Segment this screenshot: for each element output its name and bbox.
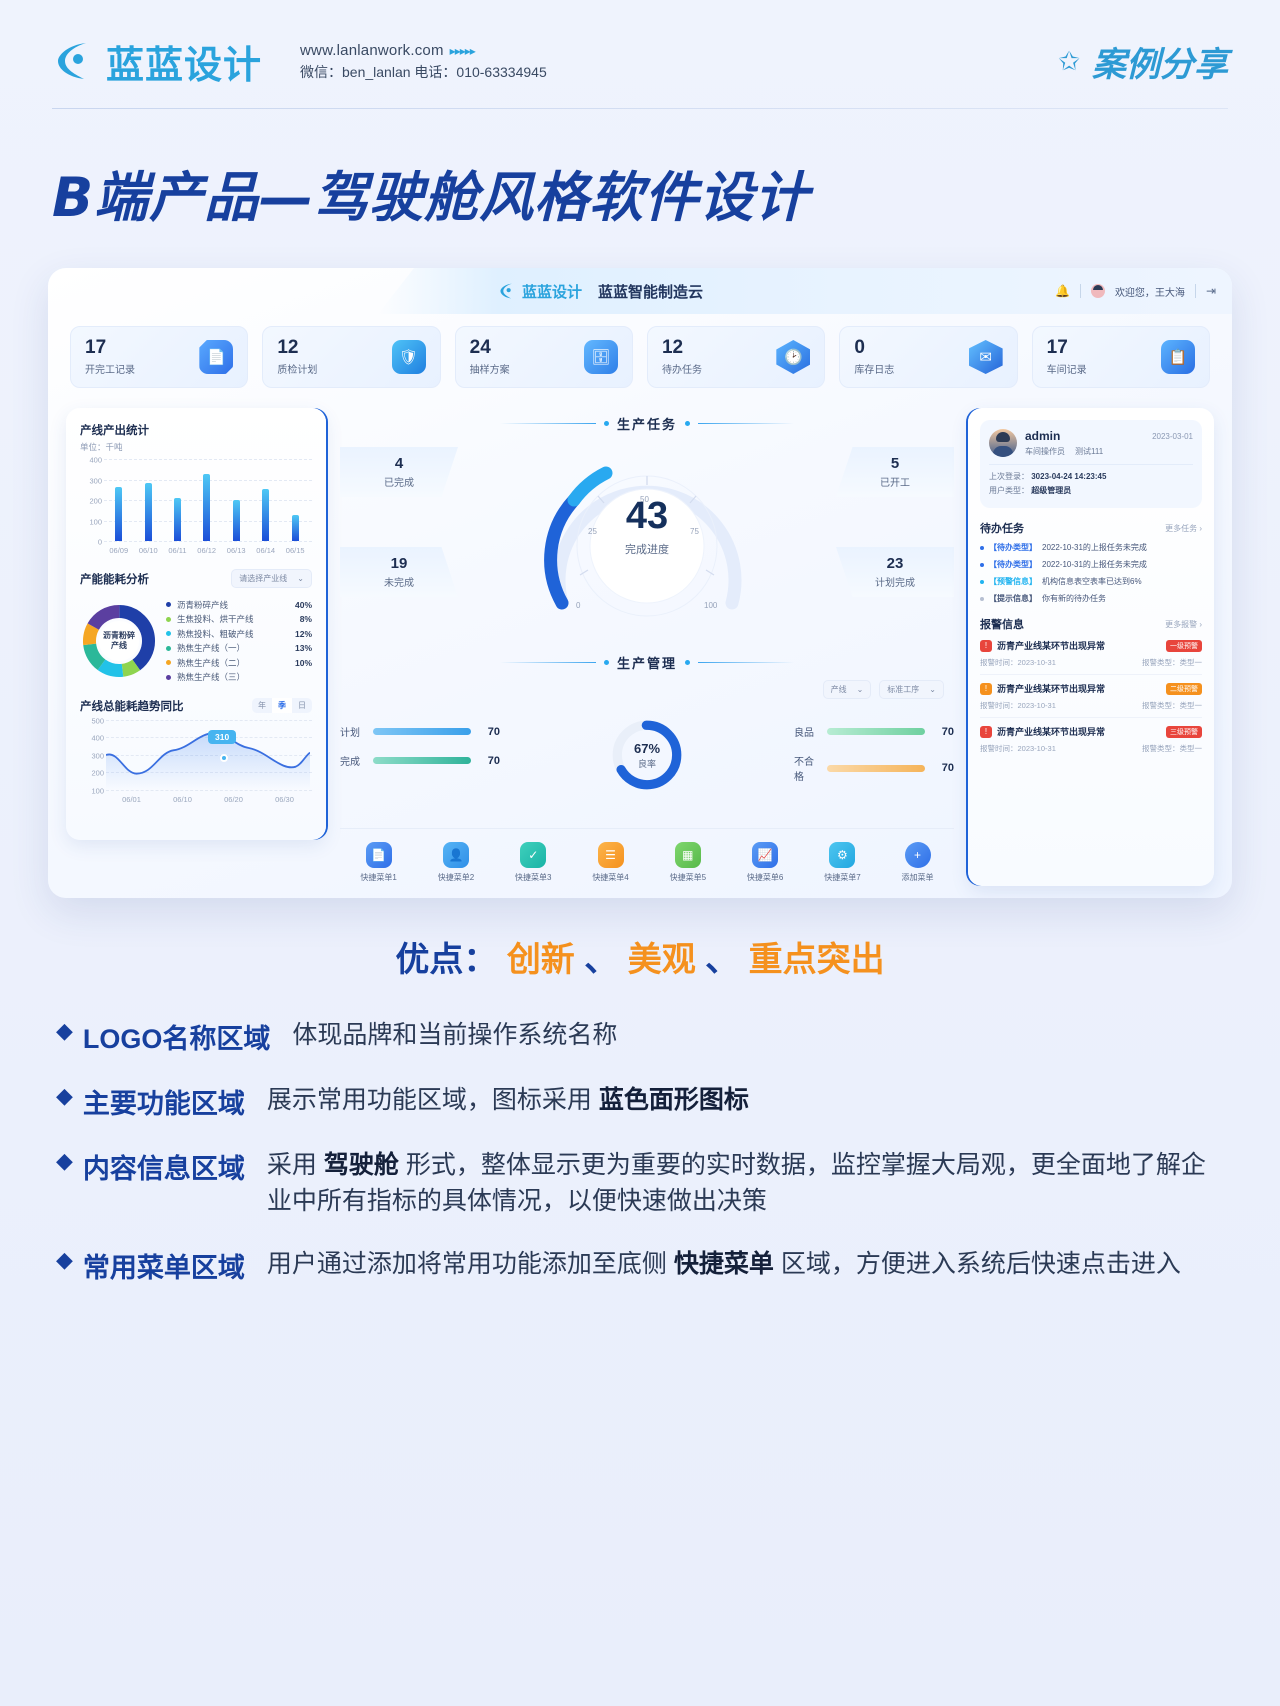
bullet-emphasis: 快捷菜单 xyxy=(674,1250,774,1278)
stat-value: 19 xyxy=(391,555,408,572)
alarm-item[interactable]: ! 沥青产业线某环节出现异常 二级预警 报警时间：2023-10-31 报警类型… xyxy=(980,675,1202,718)
quick-menu-item[interactable]: ▦ 快捷菜单5 xyxy=(670,842,706,883)
todo-section-header: 待办任务 更多任务 › xyxy=(980,520,1202,536)
app-system-name: 蓝蓝智能制造云 xyxy=(598,281,703,302)
x-tick: 06/13 xyxy=(227,546,246,555)
center-panel: 生产任务 4 已完成 5 已开工 19 未完成 xyxy=(340,400,954,898)
stat-card[interactable]: 17 开完工记录 📄 xyxy=(70,326,248,388)
ring-value: 67% xyxy=(634,741,660,756)
kpi-label: 不合格 xyxy=(794,753,820,783)
todo-more-link[interactable]: 更多任务 › xyxy=(1165,523,1202,534)
lanlan-logo: 蓝蓝设计 xyxy=(52,34,262,89)
y-tick: 200 xyxy=(80,497,102,506)
kpi-row: 良品 70 xyxy=(794,724,954,739)
user-icon: 👤 xyxy=(443,842,469,868)
energy-chart-title: 产能能耗分析 xyxy=(80,571,149,587)
alarm-text: 沥青产业线某环节出现异常 xyxy=(997,725,1161,738)
last-login-key: 上次登录： xyxy=(989,472,1029,481)
quick-menu-item[interactable]: ⚙ 快捷菜单7 xyxy=(824,842,860,883)
production-task-divider: 生产任务 xyxy=(340,414,954,433)
quick-menu-item[interactable]: 👤 快捷菜单2 xyxy=(438,842,474,883)
alarm-type-value: 类型一 xyxy=(1180,658,1203,667)
stat-label: 抽样方案 xyxy=(470,361,510,376)
gauge-stat-incomplete: 19 未完成 xyxy=(340,547,458,597)
completion-gauge: 50 25 75 0 100 43 完成进度 xyxy=(544,443,750,633)
advantage-sep-2: 、 xyxy=(705,941,739,979)
y-tick: 200 xyxy=(82,769,104,778)
quick-menu-item[interactable]: 📄 快捷菜单1 xyxy=(360,842,396,883)
production-task-title: 生产任务 xyxy=(617,414,677,433)
production-gauge-section: 4 已完成 5 已开工 19 未完成 23 计划完成 xyxy=(340,439,954,639)
legend-dot xyxy=(166,646,171,651)
alarm-item[interactable]: ! 沥青产业线某环节出现异常 一级预警 报警时间：2023-10-31 报警类型… xyxy=(980,632,1202,675)
bullet-text: 体现品牌和当前操作系统名称 xyxy=(292,1017,617,1053)
legend-label: 熟焦生产线（二） xyxy=(177,657,295,669)
bullet-row: ◆ 常用菜单区域 用户通过添加将常用功能添加至底侧 快捷菜单 区域，方便进入系统… xyxy=(56,1246,1224,1285)
quick-menu-label: 快捷菜单3 xyxy=(515,872,551,883)
y-tick: 0 xyxy=(80,538,102,547)
lanlan-logo-icon xyxy=(52,39,96,83)
divider-line-right xyxy=(698,423,794,424)
stat-value: 4 xyxy=(395,455,403,472)
bullet-row: ◆ 主要功能区域 展示常用功能区域，图标采用 蓝色面形图标 xyxy=(56,1082,1224,1121)
production-mgmt-divider: 生产管理 xyxy=(340,653,954,672)
stat-value: 17 xyxy=(1047,338,1087,358)
alarm-text: 沥青产业线某环节出现异常 xyxy=(997,682,1161,695)
alarm-time-value: 2023-10-31 xyxy=(1018,701,1056,710)
todo-text: 2022-10-31的上报任务未完成 xyxy=(1042,559,1147,570)
trend-period-toggle[interactable]: 年 季 日 xyxy=(252,698,312,713)
kpi-bar xyxy=(827,765,925,772)
donut-center-label: 沥青粉碎产线 xyxy=(99,621,139,661)
legend-dot xyxy=(166,617,171,622)
period-quarter[interactable]: 季 xyxy=(272,698,292,713)
y-tick: 300 xyxy=(80,476,102,485)
contact-line: 微信：ben_lanlan 电话：010-63334945 xyxy=(300,62,547,84)
quick-menu-label: 快捷菜单5 xyxy=(670,872,706,883)
user-date: 2023-03-01 xyxy=(1152,432,1193,441)
legend-dot xyxy=(166,675,171,680)
select-value: 标准工序 xyxy=(887,684,919,695)
alarm-type-key: 报警类型： xyxy=(1142,658,1180,667)
kpi-row: 计划 70 xyxy=(340,724,500,739)
stat-card[interactable]: 12 待办任务 🕑 xyxy=(647,326,825,388)
user-card-divider xyxy=(989,464,1193,465)
add-menu-item[interactable]: + 添加菜单 xyxy=(902,842,934,883)
arrows-icon: ▸▸▸▸▸ xyxy=(450,44,475,58)
mgmt-filters: 产线 ⌄ 标准工序 ⌄ xyxy=(823,680,944,699)
select-value: 请选择产业线 xyxy=(239,573,287,584)
stat-label: 待办任务 xyxy=(662,361,702,376)
alarm-top-row: ! 沥青产业线某环节出现异常 二级预警 xyxy=(980,682,1202,695)
y-tick: 100 xyxy=(80,517,102,526)
stat-card[interactable]: 24 抽样方案 🗄 xyxy=(455,326,633,388)
gear-icon: ⚙ xyxy=(829,842,855,868)
stat-label: 计划完成 xyxy=(875,574,915,589)
stat-card[interactable]: 17 车间记录 📋 xyxy=(1032,326,1210,388)
bar xyxy=(115,487,122,541)
advantages-line: 优点： 创新 、 美观 、 重点突出 xyxy=(0,932,1280,981)
kpi-value: 70 xyxy=(932,762,954,774)
legend-item: 熟焦生产线（一） 13% xyxy=(166,642,312,654)
header-divider xyxy=(52,108,1228,109)
y-tick: 400 xyxy=(82,734,104,743)
production-line-select[interactable]: 产线 ⌄ xyxy=(823,680,872,699)
todo-item[interactable]: 【提示信息】 你有新的待办任务 xyxy=(980,593,1202,604)
quick-menu-item[interactable]: 📈 快捷菜单6 xyxy=(747,842,783,883)
bullet-emphasis: 蓝色面形图标 xyxy=(599,1086,749,1114)
kpi-bar xyxy=(373,728,471,735)
energy-chart-header: 产能能耗分析 请选择产业线 ⌄ xyxy=(80,569,312,588)
kpi-row: 完成 70 xyxy=(340,753,500,768)
star-icon: ✩ xyxy=(1058,46,1080,77)
stat-value: 5 xyxy=(891,455,899,472)
right-panel: admin 2023-03-01 车间操作员 测试111 上次登录： 30 xyxy=(968,408,1214,886)
chevron-down-icon: ⌄ xyxy=(857,685,864,694)
shield-user-icon: 🛡 xyxy=(392,340,426,374)
case-share-label: 案例分享 xyxy=(1092,37,1228,86)
alarm-type-key: 报警类型： xyxy=(1142,744,1180,753)
bullet-icon xyxy=(980,546,984,550)
output-chart-title: 产线产出统计 xyxy=(80,422,312,438)
bullet-key: LOGO名称区域 xyxy=(83,1017,271,1056)
alarm-time-value: 2023-10-31 xyxy=(1018,658,1056,667)
welcome-text: 欢迎您，王大海 xyxy=(1115,284,1185,299)
check-icon: ✓ xyxy=(520,842,546,868)
user-meta: 车间操作员 测试111 xyxy=(1025,446,1193,457)
bullet-icon xyxy=(980,580,984,584)
status-badge: 三级预警 xyxy=(1166,726,1202,738)
quick-menu-label: 添加菜单 xyxy=(902,872,934,883)
trend-x-labels: 06/01 06/10 06/20 06/30 xyxy=(106,795,310,804)
alarm-section-header: 报警信息 更多报警 › xyxy=(980,616,1202,632)
bar xyxy=(292,515,299,541)
diamond-icon: ◆ xyxy=(56,1082,73,1110)
output-bar-chart: 400 300 200 100 0 xyxy=(80,459,312,555)
quick-menu-bar: 📄 快捷菜单1 👤 快捷菜单2 ✓ 快捷菜单3 ☰ 快捷菜单4 ▦ 快捷 xyxy=(340,828,954,890)
alarm-more-link[interactable]: 更多报警 › xyxy=(1165,619,1202,630)
diamond-icon: ◆ xyxy=(56,1147,73,1175)
kpi-value: 70 xyxy=(478,755,500,767)
stat-label: 已开工 xyxy=(880,474,910,489)
bar xyxy=(145,483,152,541)
bullet-text: 展示常用功能区域，图标采用 蓝色面形图标 xyxy=(267,1082,749,1118)
todo-tag: 【待办类型】 xyxy=(989,542,1037,553)
database-search-icon: 🗄 xyxy=(584,340,618,374)
x-tick: 06/10 xyxy=(173,795,192,804)
alarm-text: 沥青产业线某环节出现异常 xyxy=(997,639,1161,652)
bar xyxy=(174,498,181,541)
x-tick: 06/15 xyxy=(286,546,305,555)
bar xyxy=(262,489,269,541)
stat-value: 23 xyxy=(887,555,904,572)
todo-text: 你有新的待办任务 xyxy=(1042,593,1106,604)
alarm-bottom-row: 报警时间：2023-10-31 报警类型：类型一 xyxy=(980,700,1202,711)
stat-label: 开完工记录 xyxy=(85,361,135,376)
legend-label: 熟焦投料、粗破产线 xyxy=(177,628,295,640)
brand-header: 蓝蓝设计 www.lanlanwork.com▸▸▸▸▸ 微信：ben_lanl… xyxy=(0,0,1280,100)
gauge-tick-0: 0 xyxy=(576,601,580,610)
last-login-row: 上次登录： 3023-04-24 14:23:45 xyxy=(989,471,1193,482)
stat-value: 17 xyxy=(85,338,135,358)
bar xyxy=(233,500,240,541)
user-avatar xyxy=(989,429,1017,457)
x-tick: 06/30 xyxy=(275,795,294,804)
alarm-icon: ! xyxy=(980,683,992,695)
user-type-key: 用户类型： xyxy=(989,486,1029,495)
gauge-tick-100: 100 xyxy=(704,601,717,610)
gauge-stat-planned: 23 计划完成 xyxy=(836,547,954,597)
legend-label: 生焦投料、烘干产线 xyxy=(177,613,300,625)
quick-menu-label: 快捷菜单4 xyxy=(592,872,628,883)
kpi-label: 完成 xyxy=(340,753,366,768)
user-name: admin xyxy=(1025,429,1060,443)
divider-dot-right xyxy=(685,660,690,665)
divider-dot-left xyxy=(604,421,609,426)
mgmt-controls-row: 产线 ⌄ 标准工序 ⌄ xyxy=(340,680,954,698)
user-role: 车间操作员 xyxy=(1025,446,1065,457)
standard-process-select[interactable]: 标准工序 ⌄ xyxy=(879,680,944,699)
stat-value: 0 xyxy=(854,338,894,358)
todo-title: 待办任务 xyxy=(980,520,1024,536)
trend-data-point xyxy=(220,754,228,762)
divider-line-left xyxy=(500,423,596,424)
plus-icon: + xyxy=(905,842,931,868)
alarm-icon: ! xyxy=(980,640,992,652)
kpi-column-right: 良品 70 不合格 70 xyxy=(794,724,954,797)
chevron-down-icon: ⌄ xyxy=(929,685,936,694)
box-icon: ▦ xyxy=(675,842,701,868)
workshop-record-icon: 📋 xyxy=(1161,340,1195,374)
bullet-key: 内容信息区域 xyxy=(83,1147,245,1186)
header-separator xyxy=(1080,284,1081,298)
bullet-emphasis: 驾驶舱 xyxy=(324,1151,399,1179)
page-title: B端产品—驾驶舱风格软件设计 xyxy=(52,153,1280,232)
kpi-label: 计划 xyxy=(340,724,366,739)
diamond-icon: ◆ xyxy=(56,1017,73,1045)
bar-x-labels: 06/09 06/10 06/11 06/12 06/13 06/14 06/1… xyxy=(104,546,310,555)
app-mockup: 蓝蓝设计 蓝蓝智能制造云 🔔 欢迎您，王大海 ⇥ 17 开完工记录 📄 12 xyxy=(48,268,1232,898)
user-type-row: 用户类型： 超级管理员 xyxy=(989,485,1193,496)
kpi-bar xyxy=(373,757,471,764)
bullet-row: ◆ 内容信息区域 采用 驾驶舱 形式，整体显示更为重要的实时数据，监控掌握大局观… xyxy=(56,1147,1224,1220)
user-type-value: 超级管理员 xyxy=(1031,486,1071,495)
trend-chart-header: 产线总能耗趋势同比 年 季 日 xyxy=(80,698,312,714)
list-icon: ☰ xyxy=(598,842,624,868)
status-badge: 一级预警 xyxy=(1166,640,1202,652)
stat-card[interactable]: 12 质检计划 🛡 xyxy=(262,326,440,388)
diamond-icon: ◆ xyxy=(56,1246,73,1274)
trend-chart-title: 产线总能耗趋势同比 xyxy=(80,698,184,714)
todo-tag: 【提示信息】 xyxy=(989,593,1037,604)
legend-label: 熟焦生产线（一） xyxy=(177,642,295,654)
energy-legend: 沥青粉碎产线 40% 生焦投料、烘干产线 8% 熟焦投料、粗破产线 12% xyxy=(166,596,312,686)
legend-dot xyxy=(166,602,171,607)
legend-value: 8% xyxy=(300,614,312,624)
bullet-icon xyxy=(980,597,984,601)
alarm-time-value: 2023-10-31 xyxy=(1018,744,1056,753)
dashboard-panels: 产线产出统计 单位：千吨 400 300 200 100 0 xyxy=(48,400,1232,898)
divider-line-right xyxy=(698,662,794,663)
x-tick: 06/12 xyxy=(197,546,216,555)
alarm-top-row: ! 沥青产业线某环节出现异常 一级预警 xyxy=(980,639,1202,652)
bar xyxy=(203,474,210,541)
exit-icon[interactable]: ⇥ xyxy=(1206,284,1216,298)
bullet-key: 常用菜单区域 xyxy=(83,1246,245,1285)
advantage-3: 重点突出 xyxy=(749,941,885,979)
chart-icon: 📈 xyxy=(752,842,778,868)
kpi-section: 计划 70 完成 70 xyxy=(340,716,954,808)
header-separator-2 xyxy=(1195,284,1196,298)
quick-menu-label: 快捷菜单1 xyxy=(360,872,396,883)
x-tick: 06/20 xyxy=(224,795,243,804)
advantage-2: 美观 xyxy=(628,941,696,979)
kpi-bar xyxy=(827,728,925,735)
app-header-bar: 蓝蓝设计 蓝蓝智能制造云 🔔 欢迎您，王大海 ⇥ xyxy=(378,268,1232,314)
quick-menu-item[interactable]: ✓ 快捷菜单3 xyxy=(515,842,551,883)
gauge-center: 43 完成进度 xyxy=(544,497,750,557)
ring-label: 良率 xyxy=(638,757,656,770)
yield-ring-chart: 67% 良率 xyxy=(608,716,686,794)
gauge-value: 43 xyxy=(544,497,750,535)
task-clock-icon: 🕑 xyxy=(776,340,810,374)
bullet-icon xyxy=(980,563,984,567)
avatar[interactable] xyxy=(1091,284,1105,298)
feature-bullets: ◆ LOGO名称区域 体现品牌和当前操作系统名称 ◆ 主要功能区域 展示常用功能… xyxy=(56,1017,1224,1285)
doc-icon: 📄 xyxy=(366,842,392,868)
alarm-type-value: 类型一 xyxy=(1180,744,1203,753)
stat-label: 车间记录 xyxy=(1047,361,1087,376)
kpi-row: 不合格 70 xyxy=(794,753,954,783)
bullet-text: 用户通过添加将常用功能添加至底侧 快捷菜单 区域，方便进入系统后快速点击进入 xyxy=(267,1246,1181,1282)
legend-item: 沥青粉碎产线 40% xyxy=(166,599,312,611)
x-tick: 06/09 xyxy=(109,546,128,555)
advantage-1: 创新 xyxy=(507,941,575,979)
status-badge: 二级预警 xyxy=(1166,683,1202,695)
legend-value: 13% xyxy=(295,643,312,653)
poster-page: 蓝蓝设计 www.lanlanwork.com▸▸▸▸▸ 微信：ben_lanl… xyxy=(0,0,1280,1706)
bell-icon[interactable]: 🔔 xyxy=(1055,284,1070,298)
todo-text: 机构信息表空表率已达到6% xyxy=(1042,576,1142,587)
legend-label: 熟焦生产线（三） xyxy=(177,671,312,683)
quick-menu-label: 快捷菜单2 xyxy=(438,872,474,883)
quick-menu-item[interactable]: ☰ 快捷菜单4 xyxy=(592,842,628,883)
alarm-type-value: 类型一 xyxy=(1180,701,1203,710)
alarm-title: 报警信息 xyxy=(980,616,1024,632)
divider-line-left xyxy=(500,662,596,663)
todo-list: 【待办类型】 2022-10-31的上报任务未完成 【待办类型】 2022-10… xyxy=(980,542,1202,604)
quick-menu-label: 快捷菜单7 xyxy=(824,872,860,883)
stat-label: 质检计划 xyxy=(277,361,317,376)
x-tick: 06/01 xyxy=(122,795,141,804)
trend-series xyxy=(106,720,310,790)
alarm-bottom-row: 报警时间：2023-10-31 报警类型：类型一 xyxy=(980,743,1202,754)
gauge-stat-started: 5 已开工 xyxy=(836,447,954,497)
legend-dot xyxy=(166,631,171,636)
todo-item[interactable]: 【预警信息】 机构信息表空表率已达到6% xyxy=(980,576,1202,587)
legend-label: 沥青粉碎产线 xyxy=(177,599,295,611)
mail-log-icon: ✉ xyxy=(969,340,1003,374)
x-tick: 06/14 xyxy=(256,546,275,555)
legend-value: 40% xyxy=(295,600,312,610)
alarm-icon: ! xyxy=(980,726,992,738)
kpi-value: 70 xyxy=(932,726,954,738)
alarm-item[interactable]: ! 沥青产业线某环节出现异常 三级预警 报警时间：2023-10-31 报警类型… xyxy=(980,718,1202,760)
period-year[interactable]: 年 xyxy=(252,698,272,713)
legend-value: 10% xyxy=(295,658,312,668)
legend-item: 熟焦投料、粗破产线 12% xyxy=(166,628,312,640)
app-logo: 蓝蓝设计 蓝蓝智能制造云 xyxy=(498,281,703,302)
y-tick: 400 xyxy=(80,456,102,465)
app-logo-icon xyxy=(498,282,516,300)
alarm-time-key: 报警时间： xyxy=(980,744,1018,753)
bullet-row: ◆ LOGO名称区域 体现品牌和当前操作系统名称 xyxy=(56,1017,1224,1056)
kpi-column-left: 计划 70 完成 70 xyxy=(340,724,500,782)
x-tick: 06/10 xyxy=(139,546,158,555)
todo-item[interactable]: 【待办类型】 2022-10-31的上报任务未完成 xyxy=(980,542,1202,553)
legend-dot xyxy=(166,660,171,665)
bullet-key: 主要功能区域 xyxy=(83,1082,245,1121)
chevron-down-icon: ⌄ xyxy=(297,574,304,583)
legend-item: 熟焦生产线（三） xyxy=(166,671,312,683)
case-share: ✩ 案例分享 xyxy=(1058,37,1228,86)
x-tick: 06/11 xyxy=(168,546,186,555)
contact-info: www.lanlanwork.com▸▸▸▸▸ 微信：ben_lanlan 电话… xyxy=(300,39,547,84)
trend-tooltip: 310 xyxy=(208,730,236,744)
user-tag: 测试111 xyxy=(1075,446,1103,457)
stat-value: 12 xyxy=(662,338,702,358)
kpi-value: 70 xyxy=(478,726,500,738)
user-card-top: admin 2023-03-01 车间操作员 测试111 xyxy=(989,429,1193,457)
production-mgmt-title: 生产管理 xyxy=(617,653,677,672)
stat-label: 库存日志 xyxy=(854,361,894,376)
user-info-card: admin 2023-03-01 车间操作员 测试111 上次登录： 30 xyxy=(980,420,1202,508)
lanlan-logo-text: 蓝蓝设计 xyxy=(106,34,262,89)
y-tick: 300 xyxy=(82,751,104,760)
stat-cards: 17 开完工记录 📄 12 质检计划 🛡 24 抽样方案 🗄 12 待办任务 🕑 xyxy=(70,326,1210,388)
bar-series xyxy=(104,459,310,541)
left-panel: 产线产出统计 单位：千吨 400 300 200 100 0 xyxy=(66,408,326,840)
divider-dot-right xyxy=(685,421,690,426)
gauge-label: 完成进度 xyxy=(544,541,750,557)
advantage-sep-1: 、 xyxy=(584,941,618,979)
document-edit-icon: 📄 xyxy=(199,340,233,374)
app-header-right: 🔔 欢迎您，王大海 ⇥ xyxy=(1055,284,1232,299)
alarm-time-key: 报警时间： xyxy=(980,658,1018,667)
period-day[interactable]: 日 xyxy=(292,698,312,713)
energy-donut-chart: 沥青粉碎产线 xyxy=(80,602,158,680)
output-chart-unit: 单位：千吨 xyxy=(80,441,312,453)
stat-card[interactable]: 0 库存日志 ✉ xyxy=(839,326,1017,388)
website-text: www.lanlanwork.com xyxy=(300,42,444,59)
gauge-stat-completed: 4 已完成 xyxy=(340,447,458,497)
divider-dot-left xyxy=(604,660,609,665)
select-value: 产线 xyxy=(831,684,847,695)
trend-area-chart: 500 400 300 200 100 xyxy=(80,720,312,804)
last-login-value: 3023-04-24 14:23:45 xyxy=(1031,472,1106,481)
ring-center: 67% 良率 xyxy=(608,716,686,794)
alarm-bottom-row: 报警时间：2023-10-31 报警类型：类型一 xyxy=(980,657,1202,668)
legend-value: 12% xyxy=(295,629,312,639)
alarm-type-key: 报警类型： xyxy=(1142,701,1180,710)
stat-label: 未完成 xyxy=(384,574,414,589)
alarm-time-key: 报警时间： xyxy=(980,701,1018,710)
todo-item[interactable]: 【待办类型】 2022-10-31的上报任务未完成 xyxy=(980,559,1202,570)
energy-donut-row: 沥青粉碎产线 沥青粉碎产线 40% 生焦投料、烘干产线 8% xyxy=(80,596,312,686)
industry-line-select[interactable]: 请选择产业线 ⌄ xyxy=(231,569,312,588)
alarm-top-row: ! 沥青产业线某环节出现异常 三级预警 xyxy=(980,725,1202,738)
stat-value: 12 xyxy=(277,338,317,358)
